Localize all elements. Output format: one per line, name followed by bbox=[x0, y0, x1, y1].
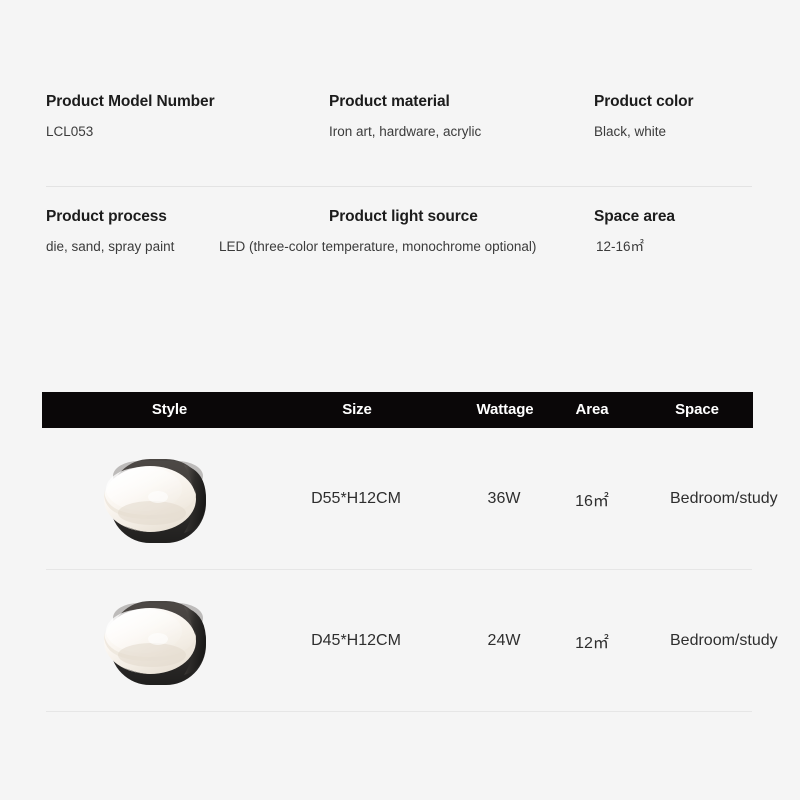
ceiling-lamp-icon bbox=[92, 447, 222, 551]
table-row: D55*H12CM 36W 16㎡ Bedroom/study bbox=[42, 428, 753, 570]
table-cell-style bbox=[62, 428, 252, 570]
spec-value-model-number: LCL053 bbox=[46, 123, 215, 141]
spec-value-light-source: LED (three-color temperature, monochrome… bbox=[219, 238, 536, 256]
spec-item-light-source: Product light source LED (three-color te… bbox=[329, 207, 536, 256]
table-cell-style bbox=[62, 570, 252, 712]
spec-label-space-area: Space area bbox=[594, 207, 675, 227]
table-header-space: Space bbox=[642, 392, 752, 428]
spec-label-model-number: Product Model Number bbox=[46, 92, 215, 112]
table-cell-area: 12㎡ bbox=[544, 570, 640, 712]
table-cell-space: Bedroom/study bbox=[638, 570, 798, 712]
table-header-row: Style Size Wattage Area Space bbox=[42, 392, 753, 428]
table-header-area: Area bbox=[547, 392, 637, 428]
spec-item-model-number: Product Model Number LCL053 bbox=[46, 92, 215, 141]
spec-value-process: die, sand, spray paint bbox=[46, 238, 174, 256]
table-cell-area: 16㎡ bbox=[544, 428, 640, 570]
table-row-divider bbox=[46, 711, 752, 712]
spec-label-material: Product material bbox=[329, 92, 481, 112]
table-cell-space: Bedroom/study bbox=[638, 428, 798, 570]
ceiling-lamp-icon bbox=[92, 589, 222, 693]
spec-item-color: Product color Black, white bbox=[594, 92, 693, 141]
spec-item-material: Product material Iron art, hardware, acr… bbox=[329, 92, 481, 141]
table-header-style: Style bbox=[87, 392, 252, 428]
spec-value-material: Iron art, hardware, acrylic bbox=[329, 123, 481, 141]
table-header-wattage: Wattage bbox=[450, 392, 560, 428]
spec-row-2: Product process die, sand, spray paint P… bbox=[46, 207, 754, 293]
table-cell-size: D45*H12CM bbox=[270, 570, 442, 712]
table-row: D45*H12CM 24W 12㎡ Bedroom/study bbox=[42, 570, 753, 712]
product-variants-table: Style Size Wattage Area Space bbox=[42, 392, 753, 712]
spec-row-1: Product Model Number LCL053 Product mate… bbox=[46, 92, 754, 178]
spec-item-process: Product process die, sand, spray paint bbox=[46, 207, 174, 256]
spec-label-process: Product process bbox=[46, 207, 174, 227]
spec-value-space-area: 12-16㎡ bbox=[596, 238, 675, 256]
spec-value-color: Black, white bbox=[594, 123, 693, 141]
table-header-size: Size bbox=[272, 392, 442, 428]
spec-item-space-area: Space area 12-16㎡ bbox=[594, 207, 675, 256]
spec-label-light-source: Product light source bbox=[329, 207, 536, 227]
spec-label-color: Product color bbox=[594, 92, 693, 112]
table-cell-size: D55*H12CM bbox=[270, 428, 442, 570]
spec-divider bbox=[46, 186, 752, 187]
